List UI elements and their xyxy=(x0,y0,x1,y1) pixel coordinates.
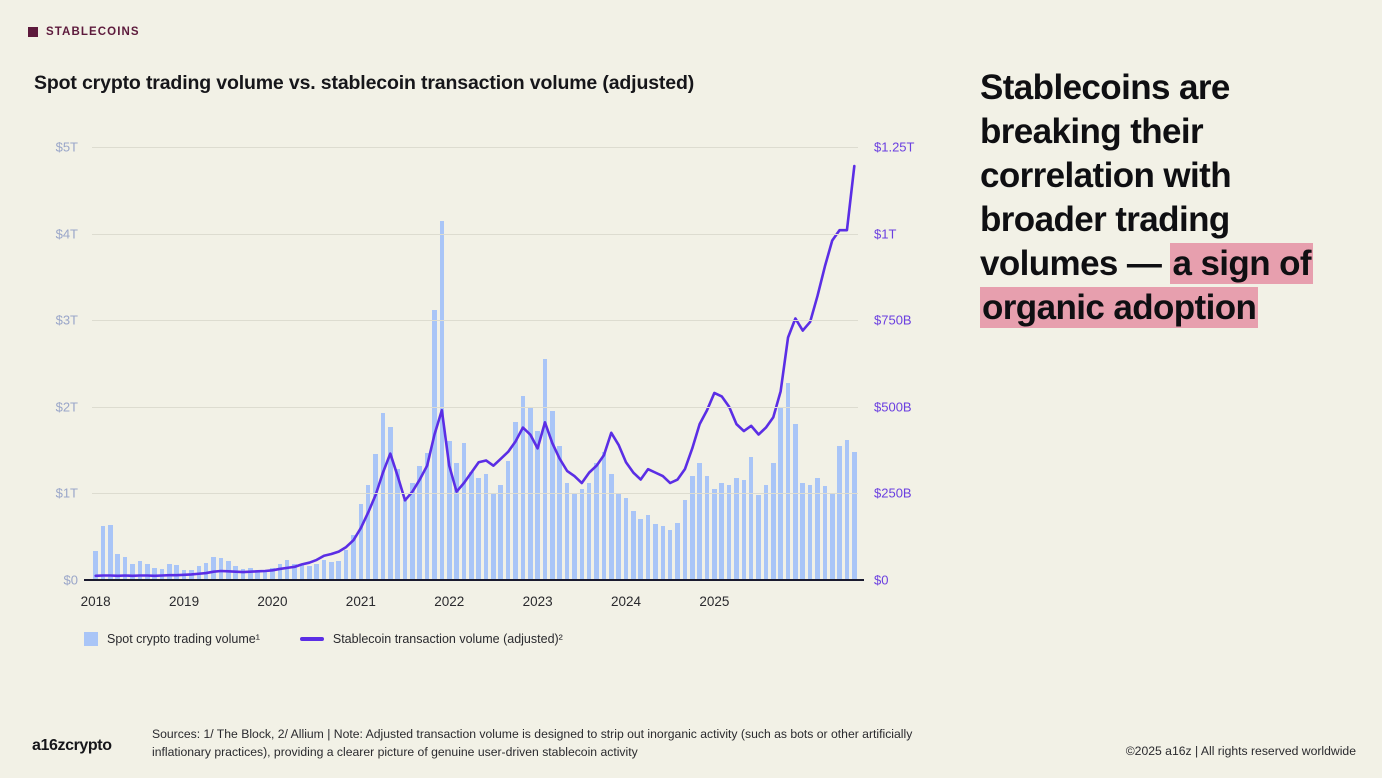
y-axis-right-tick: $500B xyxy=(874,399,912,414)
y-axis-right-tick: $750B xyxy=(874,313,912,328)
gridline xyxy=(92,234,858,235)
y-axis-right-tick: $1T xyxy=(874,226,896,241)
footer-sources-note: Sources: 1/ The Block, 2/ Allium | Note:… xyxy=(152,726,932,761)
chart-container: $0$1T$2T$3T$4T$5T$0$250B$500B$750B$1T$1.… xyxy=(0,0,960,700)
y-axis-left-tick: $2T xyxy=(56,399,78,414)
y-axis-right-tick: $0 xyxy=(874,573,888,588)
y-axis-left-tick: $5T xyxy=(56,140,78,155)
axis-baseline xyxy=(84,579,864,582)
legend-label-bar: Spot crypto trading volume¹ xyxy=(107,632,260,646)
gridline xyxy=(92,407,858,408)
headline: Stablecoins are breaking their correlati… xyxy=(980,66,1340,331)
y-axis-right-tick: $1.25T xyxy=(874,140,914,155)
legend-swatch-bar-icon xyxy=(84,632,98,646)
gridline xyxy=(92,493,858,494)
x-axis-tick: 2018 xyxy=(81,594,111,609)
y-axis-left-tick: $3T xyxy=(56,313,78,328)
legend-label-line: Stablecoin transaction volume (adjusted)… xyxy=(333,632,563,646)
x-axis-tick: 2019 xyxy=(169,594,199,609)
x-axis-tick: 2022 xyxy=(434,594,464,609)
gridline xyxy=(92,320,858,321)
legend-item-stablecoin-transaction-volume[interactable]: Stablecoin transaction volume (adjusted)… xyxy=(300,632,563,646)
x-axis-tick: 2021 xyxy=(346,594,376,609)
x-axis-tick: 2025 xyxy=(699,594,729,609)
y-axis-right-tick: $250B xyxy=(874,486,912,501)
x-axis-tick: 2020 xyxy=(257,594,287,609)
plot-area: $0$1T$2T$3T$4T$5T$0$250B$500B$750B$1T$1.… xyxy=(92,147,858,580)
legend-swatch-line-icon xyxy=(300,637,324,641)
x-axis-tick: 2024 xyxy=(611,594,641,609)
y-axis-left-tick: $4T xyxy=(56,226,78,241)
x-axis-tick: 2023 xyxy=(523,594,553,609)
line-series-stablecoin-transaction-volume xyxy=(92,147,858,580)
y-axis-left-tick: $1T xyxy=(56,486,78,501)
slide-root: STABLECOINS Spot crypto trading volume v… xyxy=(0,0,1382,778)
line-path xyxy=(96,166,855,576)
brand-logo: a16zcrypto xyxy=(32,737,112,755)
gridline xyxy=(92,147,858,148)
chart-legend: Spot crypto trading volume¹ Stablecoin t… xyxy=(84,632,563,646)
y-axis-left-tick: $0 xyxy=(64,573,78,588)
footer-copyright: ©2025 a16z | All rights reserved worldwi… xyxy=(1126,744,1356,758)
legend-item-spot-crypto-trading-volume[interactable]: Spot crypto trading volume¹ xyxy=(84,632,260,646)
